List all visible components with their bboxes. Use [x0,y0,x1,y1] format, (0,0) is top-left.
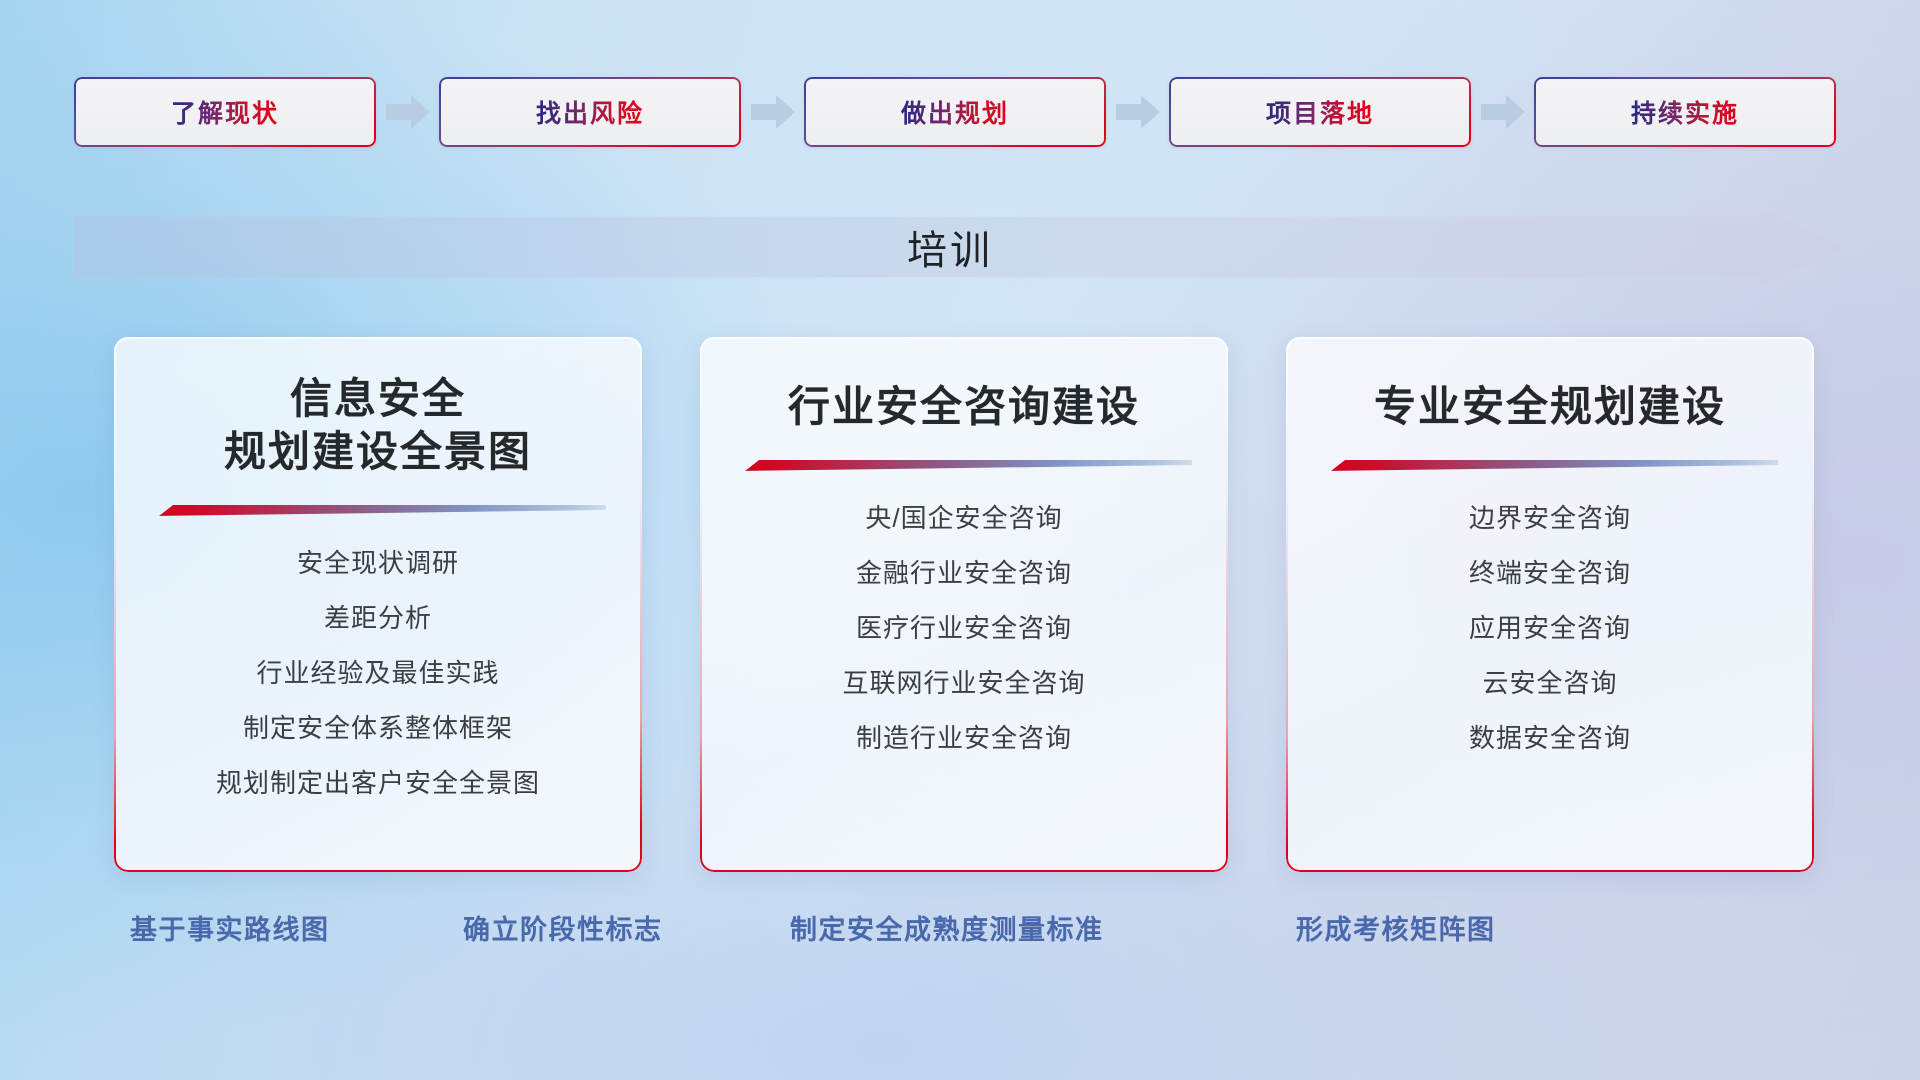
list-item: 数据安全咨询 [1469,725,1631,751]
list-item: 应用安全咨询 [1469,615,1631,641]
list-item: 制定安全体系整体框架 [216,715,540,741]
list-item: 金融行业安全咨询 [842,560,1085,586]
right-arrow-icon [376,77,439,147]
process-step-3[interactable]: 做出规划 [804,77,1106,147]
outcome-caption: 制定安全成熟度测量标准 [790,908,1104,947]
process-step-row: 了解现状找出风险做出规划项目落地持续实施 [74,77,1846,147]
service-card-title: 信息安全规划建设全景图 [224,373,532,479]
card-accent-divider [1323,460,1778,471]
service-card-industry-consulting[interactable]: 行业安全咨询建设央/国企安全咨询金融行业安全咨询医疗行业安全咨询互联网行业安全咨… [700,337,1228,872]
list-item: 云安全咨询 [1469,670,1631,696]
banner-title: 培训 [74,207,1846,287]
process-step-5[interactable]: 持续实施 [1534,77,1836,147]
list-item: 规划制定出客户安全全景图 [216,770,540,796]
service-card-title: 专业安全规划建设 [1374,381,1726,434]
right-arrow-icon [741,77,804,147]
right-arrow-icon [1106,77,1169,147]
process-step-label: 找出风险 [536,94,644,130]
right-arrow-icon [1471,77,1534,147]
service-card-row: 信息安全规划建设全景图安全现状调研差距分析行业经验及最佳实践制定安全体系整体框架… [114,337,1814,872]
process-step-1[interactable]: 了解现状 [74,77,376,147]
card-accent-divider [737,460,1192,471]
process-step-label: 做出规划 [901,94,1009,130]
list-item: 终端安全咨询 [1469,560,1631,586]
list-item: 边界安全咨询 [1469,505,1631,531]
service-card-title-line: 信息安全 [224,373,532,426]
service-card-professional-planning[interactable]: 专业安全规划建设边界安全咨询终端安全咨询应用安全咨询云安全咨询数据安全咨询 [1286,337,1814,872]
list-item: 医疗行业安全咨询 [842,615,1085,641]
service-card-list: 央/国企安全咨询金融行业安全咨询医疗行业安全咨询互联网行业安全咨询制造行业安全咨… [842,505,1085,751]
outcome-caption: 形成考核矩阵图 [1296,908,1496,947]
service-card-title-line: 专业安全规划建设 [1374,381,1726,434]
list-item: 制造行业安全咨询 [842,725,1085,751]
outcome-caption: 确立阶段性标志 [463,908,663,947]
card-accent-divider [151,505,606,516]
service-card-title: 行业安全咨询建设 [788,381,1140,434]
service-card-title-line: 行业安全咨询建设 [788,381,1140,434]
list-item: 差距分析 [216,605,540,631]
outcome-caption: 基于事实路线图 [130,908,330,947]
service-card-title-line: 规划建设全景图 [224,426,532,479]
process-step-4[interactable]: 项目落地 [1169,77,1471,147]
service-card-list: 边界安全咨询终端安全咨询应用安全咨询云安全咨询数据安全咨询 [1469,505,1631,751]
process-step-2[interactable]: 找出风险 [439,77,741,147]
process-step-label: 持续实施 [1631,94,1739,130]
service-card-panorama[interactable]: 信息安全规划建设全景图安全现状调研差距分析行业经验及最佳实践制定安全体系整体框架… [114,337,642,872]
list-item: 央/国企安全咨询 [842,505,1085,531]
process-step-label: 项目落地 [1266,94,1374,130]
service-card-list: 安全现状调研差距分析行业经验及最佳实践制定安全体系整体框架规划制定出客户安全全景… [216,550,540,796]
training-banner: 培训 [74,207,1846,287]
list-item: 行业经验及最佳实践 [216,660,540,686]
outcome-caption-row: 基于事实路线图确立阶段性标志制定安全成熟度测量标准形成考核矩阵图 [0,908,1920,958]
process-step-label: 了解现状 [171,94,279,130]
list-item: 互联网行业安全咨询 [842,670,1085,696]
list-item: 安全现状调研 [216,550,540,576]
